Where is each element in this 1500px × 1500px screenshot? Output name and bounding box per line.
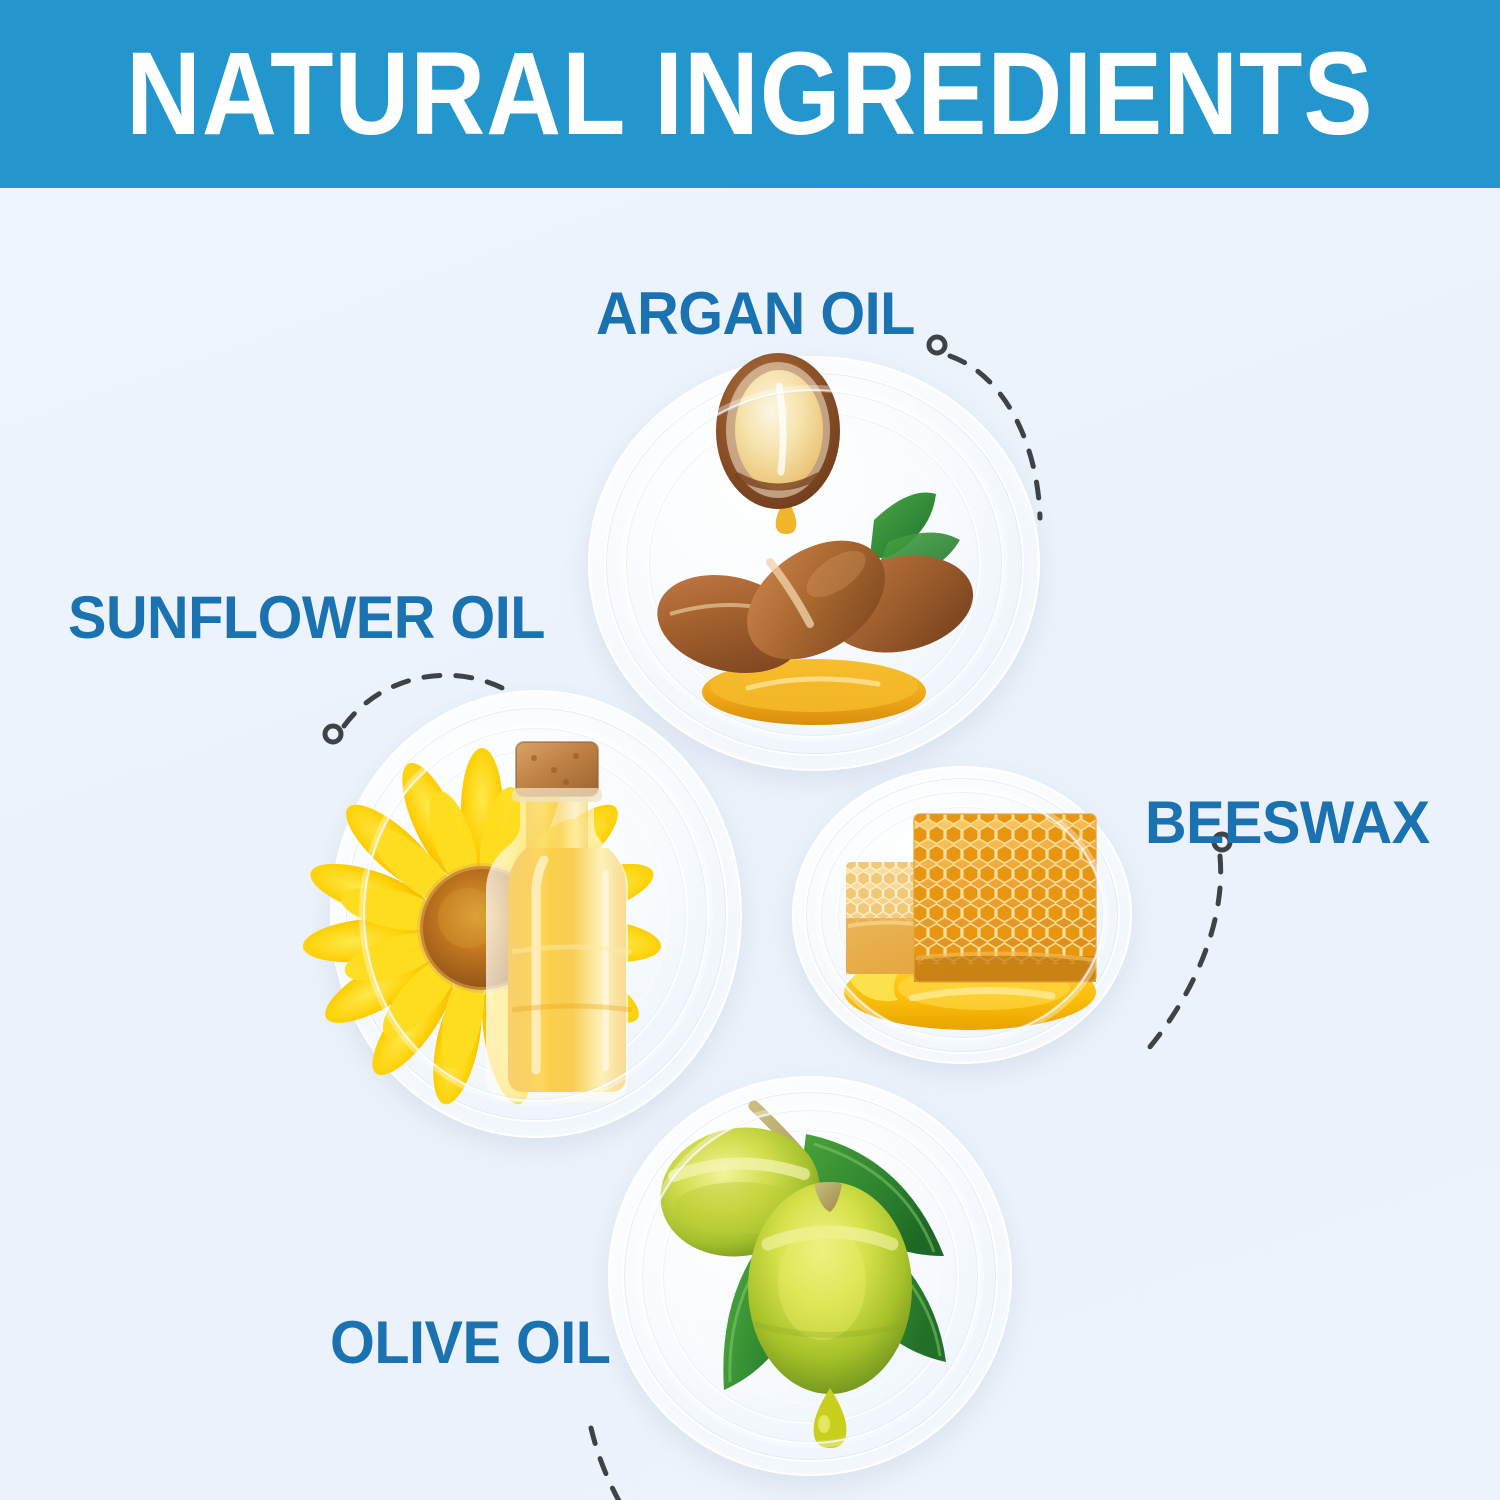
ingredients-stage: ARGAN OIL [0,188,1500,1500]
connector-olive [575,1418,775,1500]
glass-dish-beeswax [792,766,1132,1064]
dish-ring-inner-2 [404,771,668,1058]
header-banner: NATURAL INGREDIENTS [0,0,1500,188]
glass-dish-olive [608,1076,1012,1476]
dish-ring-inner [384,748,689,1080]
sunflower-bottle-icon [330,690,742,1138]
olives-icon [608,1076,1012,1476]
connector-argan [920,328,1120,538]
dish-ring-inner [661,1128,960,1424]
label-sunflower-oil: SUNFLOWER OIL [68,588,545,648]
honeycomb-icon [792,766,1132,1064]
label-olive-oil: OLIVE OIL [330,1313,611,1373]
label-beeswax: BEESWAX [1145,793,1430,853]
dish-ring-inner [836,805,1088,1026]
page-title: NATURAL INGREDIENTS [126,35,1373,153]
connector-beeswax [1130,828,1250,1078]
dish-ring-inner-2 [853,820,1071,1011]
dish-ring-inner-2 [681,1148,940,1404]
dish-ring-inner-2 [669,431,958,697]
label-argan-oil: ARGAN OIL [596,284,915,344]
glass-dish-sunflower [330,690,742,1138]
